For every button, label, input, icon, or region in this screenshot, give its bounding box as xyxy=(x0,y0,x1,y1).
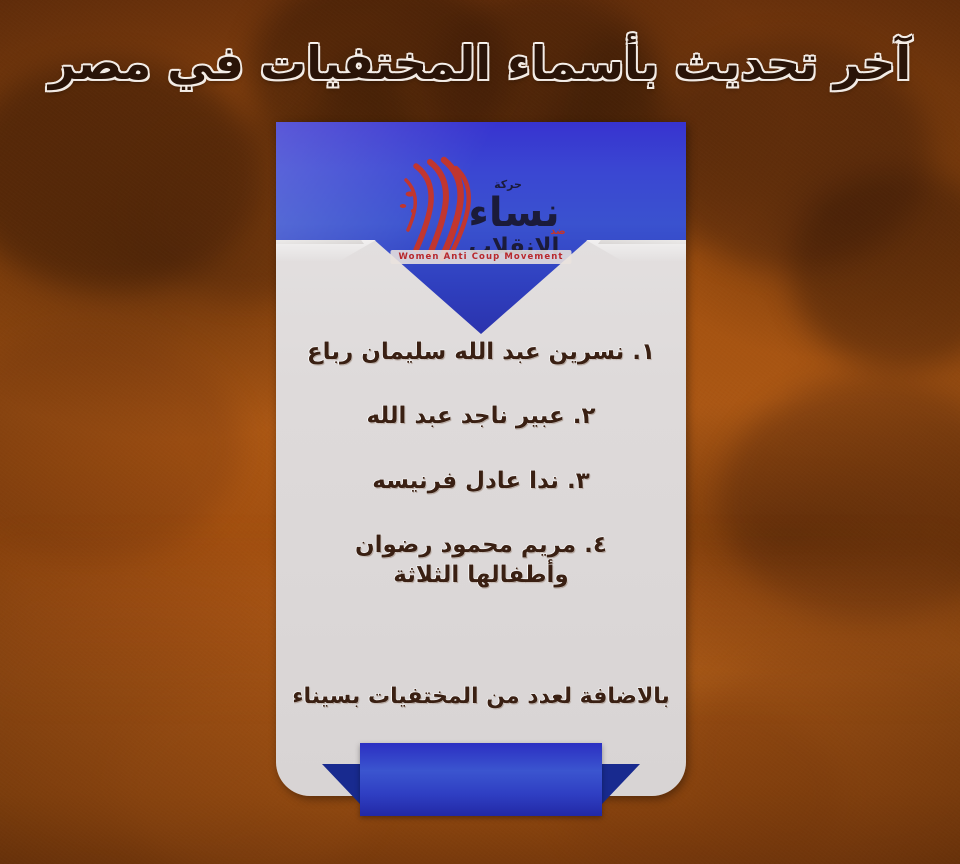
list-item: ٤. مريم محمود رضوان وأطفالها الثلاثة xyxy=(298,531,664,590)
logo-flame-icon xyxy=(406,160,469,258)
tab-block xyxy=(360,743,602,816)
poster: آخر تحديث بأسماء المختفيات في مصر xyxy=(0,0,960,864)
logo-face-accent xyxy=(400,191,415,213)
logo-wordmark: حركة نساء الانقلاب xyxy=(468,178,559,260)
card-bottom-tab xyxy=(276,722,686,837)
ribbon-header: حركة نساء الانقلاب ضد Women Anti Coup Mo… xyxy=(276,122,686,334)
ribbon-wing-shadow-left xyxy=(276,240,376,262)
svg-text:نساء: نساء xyxy=(468,190,559,236)
logo-word-against: ضد xyxy=(550,226,565,237)
info-card: حركة نساء الانقلاب ضد Women Anti Coup Mo… xyxy=(276,122,686,796)
list-item: ١. نسرين عبد الله سليمان رباع xyxy=(298,338,664,367)
page-title: آخر تحديث بأسماء المختفيات في مصر xyxy=(0,35,960,91)
tab-shadow-left xyxy=(322,764,360,804)
footnote-text: بالاضافة لعدد من المختفيات بسيناء xyxy=(276,684,686,709)
list-item: ٢. عبير ناجد عبد الله xyxy=(298,402,664,431)
list-item: ٣. ندا عادل فرنيسه xyxy=(298,467,664,496)
logo-tagline: Women Anti Coup Movement xyxy=(390,250,571,264)
tab-shadow-right xyxy=(602,764,640,804)
ribbon-wing-shadow-right xyxy=(586,240,686,262)
missing-women-list: ١. نسرين عبد الله سليمان رباع ٢. عبير نا… xyxy=(276,338,686,634)
